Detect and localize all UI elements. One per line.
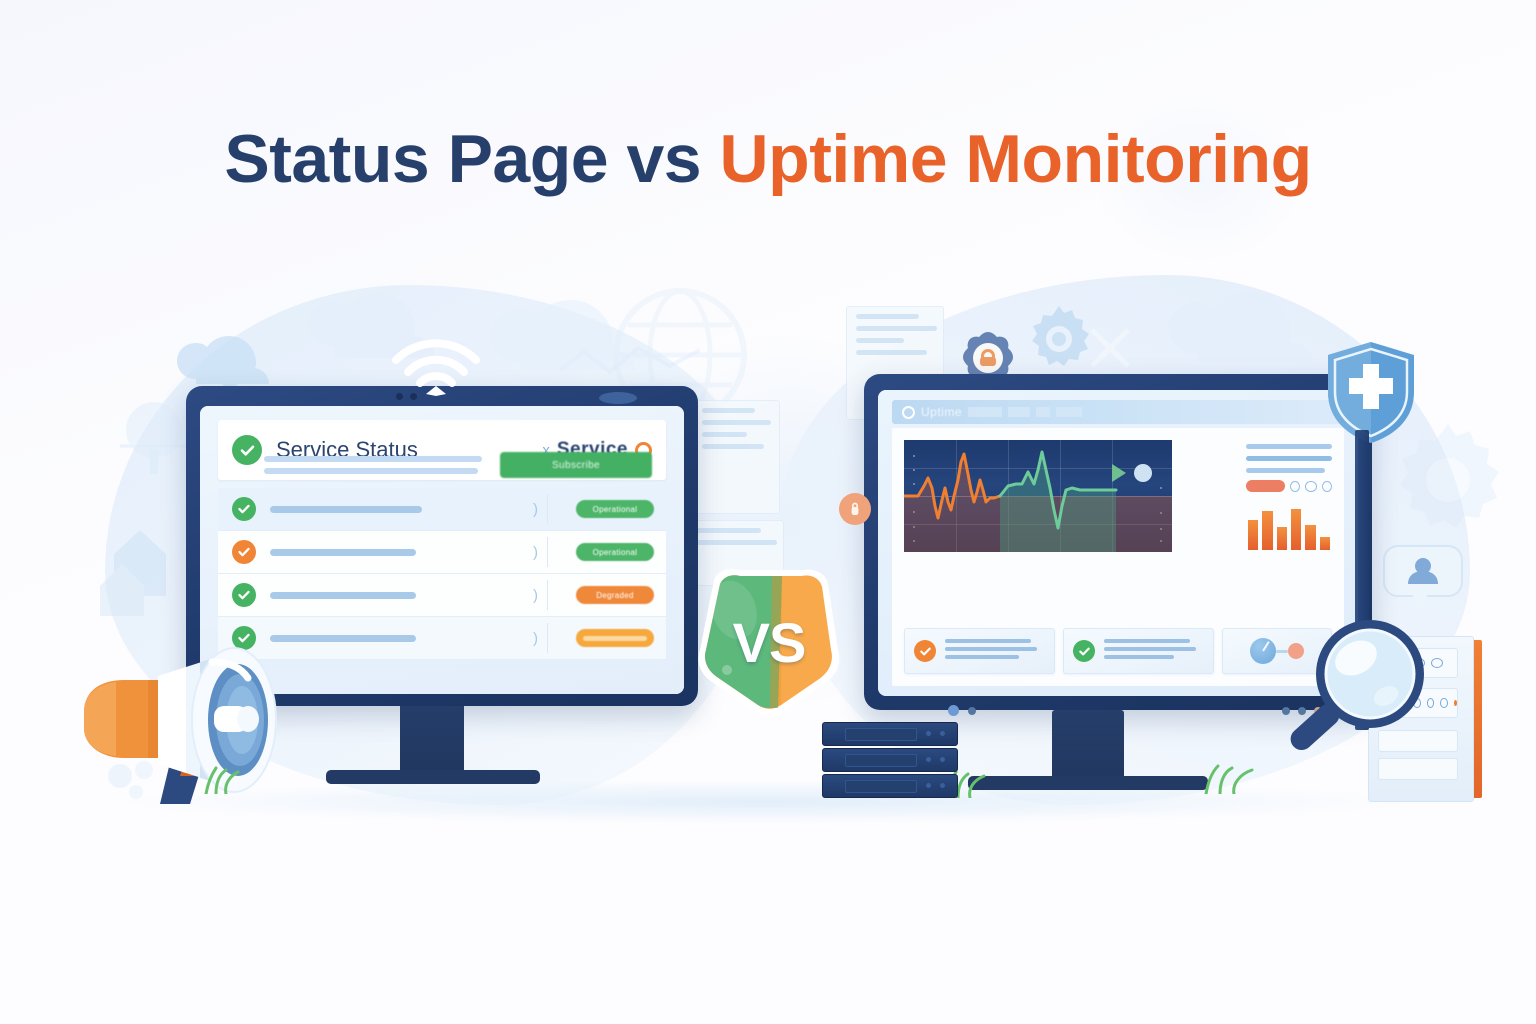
location-pin-icon bbox=[100, 530, 180, 620]
status-led bbox=[968, 707, 976, 715]
table-row[interactable]: ) Degraded bbox=[218, 574, 666, 617]
server-unit bbox=[822, 722, 958, 746]
circle-icon bbox=[1322, 481, 1332, 492]
cloud-icon bbox=[1160, 292, 1330, 362]
toolbar-segment[interactable] bbox=[1036, 407, 1050, 417]
status-card[interactable] bbox=[1063, 628, 1214, 674]
circle-icon bbox=[902, 406, 915, 419]
bar bbox=[1262, 511, 1272, 550]
subscribe-button[interactable]: Subscribe bbox=[500, 452, 652, 478]
check-circle-icon bbox=[232, 540, 256, 564]
status-led bbox=[599, 392, 637, 404]
grass-decoration bbox=[1200, 762, 1260, 799]
server-unit bbox=[822, 774, 958, 798]
status-badge bbox=[576, 629, 654, 647]
monitor-neck bbox=[400, 700, 464, 774]
incidents-bar-chart bbox=[1248, 502, 1330, 550]
table-row[interactable]: ) Operational bbox=[218, 531, 666, 574]
bar bbox=[1291, 509, 1301, 550]
uptime-dashboard bbox=[892, 428, 1344, 686]
status-badge: Operational bbox=[576, 500, 654, 518]
page-title: Status Page vs Uptime Monitoring bbox=[0, 120, 1536, 198]
row-meta: ) bbox=[533, 544, 538, 561]
status-page-summary bbox=[218, 456, 448, 480]
check-circle-icon bbox=[232, 583, 256, 607]
magnifier-icon bbox=[1282, 612, 1432, 772]
bar bbox=[1305, 525, 1315, 550]
check-circle-icon bbox=[1073, 640, 1095, 662]
status-badge: Operational bbox=[576, 543, 654, 561]
alert-pill bbox=[1246, 480, 1285, 492]
lock-badge-icon bbox=[838, 492, 872, 526]
bar bbox=[1320, 537, 1330, 550]
sparkle-icon bbox=[1082, 320, 1138, 376]
table-row[interactable]: ) Operational bbox=[218, 488, 666, 531]
check-circle-icon bbox=[232, 497, 256, 521]
toolbar-segment[interactable] bbox=[1056, 407, 1082, 417]
chart-series-svg bbox=[904, 440, 1172, 552]
illustration-canvas: Service Status x Service Subscribe bbox=[0, 0, 1536, 1024]
monitor-foot bbox=[326, 770, 540, 784]
toolbar-segment[interactable] bbox=[968, 407, 1002, 417]
response-time-chart bbox=[904, 440, 1172, 552]
page-title-accent: Uptime Monitoring bbox=[720, 121, 1312, 197]
toolbar-label: Uptime bbox=[921, 405, 962, 419]
row-meta: ) bbox=[533, 587, 538, 604]
toolbar-segment[interactable] bbox=[1008, 407, 1030, 417]
server-stack-icon bbox=[822, 722, 972, 804]
shield-health-icon bbox=[1325, 340, 1417, 445]
background-panel-card bbox=[692, 400, 780, 514]
row-meta: ) bbox=[533, 630, 538, 647]
versus-label: VS bbox=[686, 566, 852, 718]
page-title-primary: Status Page vs bbox=[224, 121, 701, 197]
bar bbox=[1248, 520, 1258, 550]
row-meta: ) bbox=[533, 501, 538, 518]
bar bbox=[1277, 527, 1287, 550]
status-card-row bbox=[904, 628, 1332, 674]
alert-row bbox=[1246, 480, 1332, 492]
circle-icon bbox=[1290, 481, 1300, 492]
gauge-icon bbox=[1250, 638, 1276, 664]
grass-decoration bbox=[200, 764, 248, 799]
megaphone-icon bbox=[62, 618, 312, 818]
circle-icon bbox=[1305, 481, 1318, 492]
server-unit bbox=[822, 748, 958, 772]
monitor-foot bbox=[968, 776, 1208, 790]
versus-shield-badge: VS bbox=[686, 566, 852, 718]
wifi-icon bbox=[388, 338, 484, 396]
monitor-neck bbox=[1052, 710, 1124, 782]
uptime-toolbar: Uptime bbox=[892, 400, 1344, 424]
marker-dot-icon bbox=[1134, 464, 1152, 482]
chart-side-list bbox=[1246, 444, 1332, 492]
status-card[interactable] bbox=[904, 628, 1055, 674]
check-circle-icon bbox=[914, 640, 936, 662]
play-icon[interactable] bbox=[1112, 464, 1126, 482]
power-led[interactable] bbox=[948, 705, 959, 716]
status-badge: Degraded bbox=[576, 586, 654, 604]
user-badge-icon bbox=[1380, 540, 1466, 612]
